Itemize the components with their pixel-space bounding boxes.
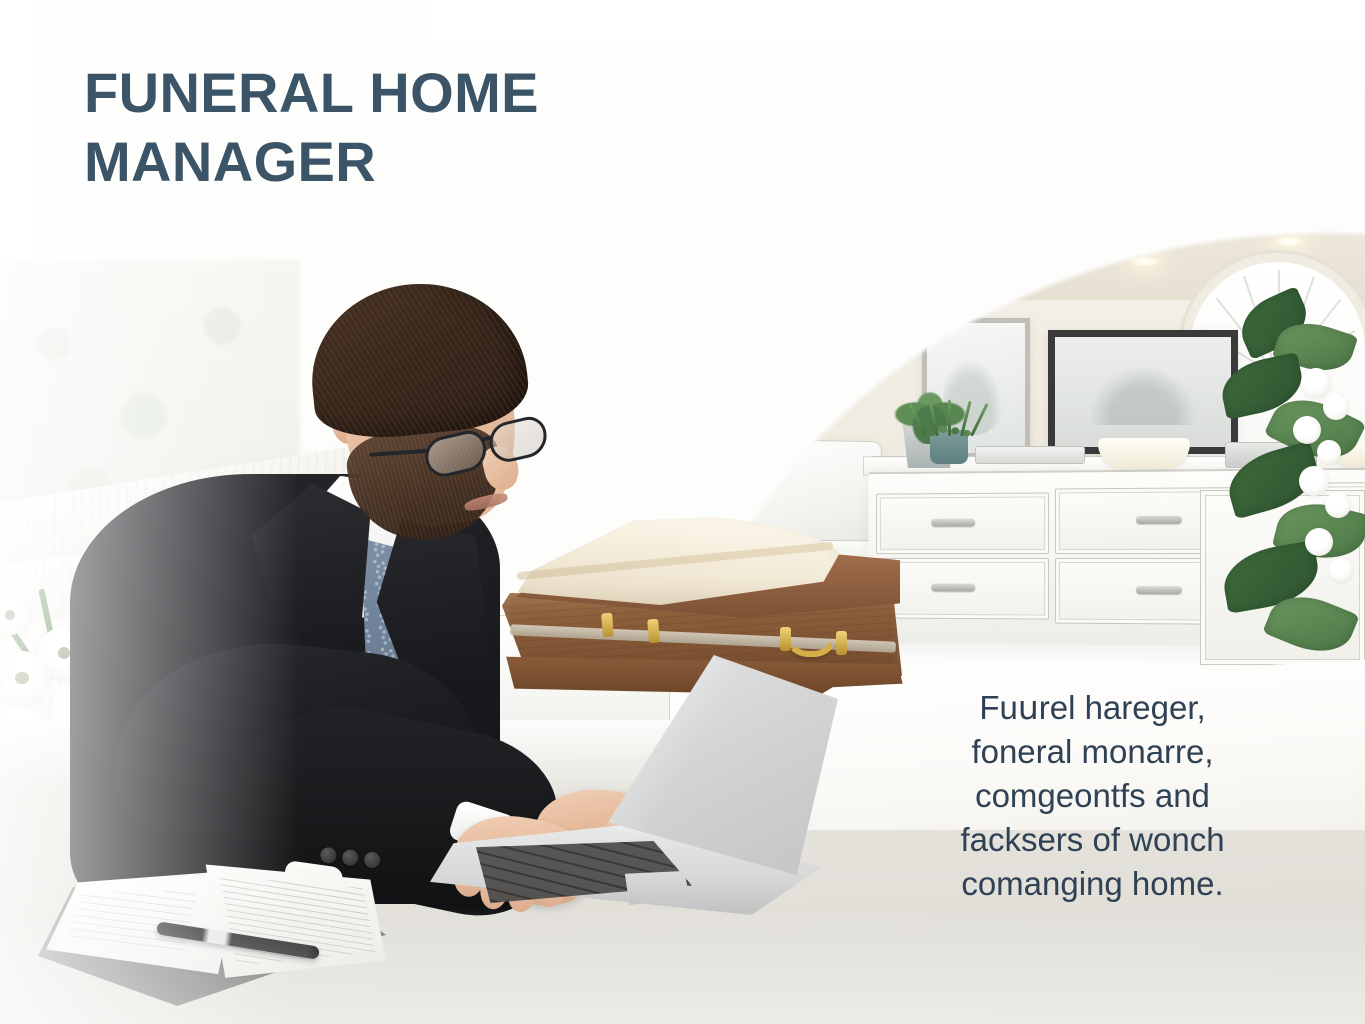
white-flower (1301, 368, 1331, 398)
artwork-large-canvas (1055, 337, 1231, 447)
drawer-handle (1136, 586, 1182, 594)
downlight-icon (970, 272, 1000, 283)
chandelier-candle (934, 50, 951, 86)
body-copy-line: comanging home. (905, 862, 1280, 906)
white-flower (1317, 440, 1341, 464)
notebook (38, 860, 388, 1010)
white-flower (1299, 466, 1329, 496)
drawer-handle (1136, 516, 1182, 524)
casket-handle-post (780, 627, 791, 651)
plant-leaves (918, 398, 980, 438)
laptop[interactable] (430, 655, 850, 925)
hair-texture (303, 273, 533, 445)
drawer-handle (931, 583, 975, 591)
framed-artwork-large (1048, 330, 1238, 454)
chandelier-icon (920, 22, 1050, 152)
body-copy: Fuսrel hareger, foneral monarre, comgeon… (905, 686, 1280, 905)
white-flower (1293, 416, 1321, 444)
white-flower (1305, 528, 1333, 556)
body-copy-line: facksers of wᴏnch (905, 818, 1280, 862)
downlight-icon (1275, 236, 1305, 247)
page-title: FUNERAL HOME MANAGER (84, 58, 704, 197)
page-title-line-2: MANAGER (84, 130, 376, 193)
casket-handle-post (836, 631, 847, 655)
body-copy-line: comgeontfs and (905, 774, 1280, 818)
eyeglass-lens-left (421, 427, 490, 480)
body-copy-line: foneral monarre, (905, 730, 1280, 774)
body-copy-line: Fuսrel hareger, (905, 686, 1280, 730)
downlight-icon (1130, 256, 1160, 267)
chandelier-candle (1008, 52, 1025, 88)
sideboard-tray (975, 446, 1085, 464)
chandelier-candle (972, 32, 989, 74)
sideboard-bowl (1098, 438, 1190, 468)
downlight-icon (800, 284, 830, 295)
drawer-handle (931, 519, 975, 527)
white-flower (1325, 492, 1351, 518)
white-flower (1323, 394, 1349, 420)
poster-canvas: FUNERAL HOME MANAGER Fuսrel hareger, fon… (0, 0, 1365, 1024)
white-anemone-flower (0, 595, 30, 635)
eyeglass-lens-right (486, 413, 552, 465)
page-title-line-1: FUNERAL HOME (84, 61, 539, 124)
floral-arrangement-right (1215, 290, 1365, 690)
white-flower (1329, 558, 1353, 582)
hair (303, 273, 533, 445)
